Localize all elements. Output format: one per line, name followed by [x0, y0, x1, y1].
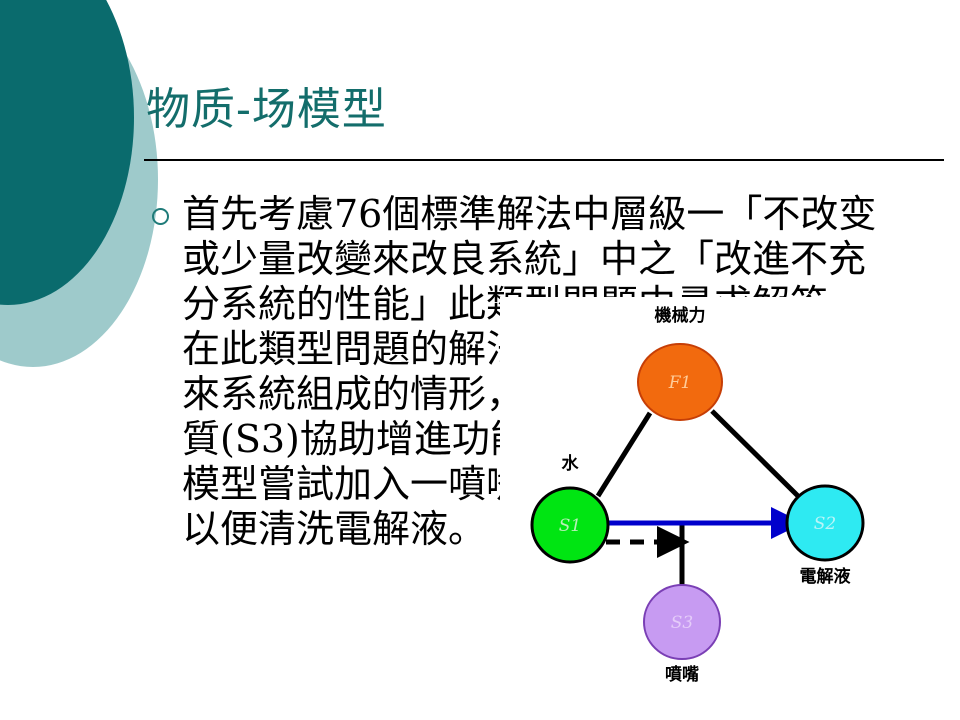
ring-bullet-icon — [152, 208, 169, 225]
edge-f1-to-s2 — [712, 411, 799, 497]
node-F1-label: F1 — [668, 373, 692, 393]
su-field-diagram: F1 機械力 S1 水 S2 電解液 S3 噴嘴 — [500, 297, 960, 697]
node-S2-label: S2 — [814, 514, 836, 534]
node-S1-label: S1 — [559, 516, 581, 536]
node-S3-outer-label: 噴嘴 — [665, 665, 699, 685]
body-line: 首先考慮76個標準解法中層級一「不改变 — [182, 192, 942, 237]
bullet-marker — [152, 192, 182, 225]
page-title: 物质-场模型 — [146, 82, 946, 138]
body-line: 或少量改變來改良系統」中之「改進不充 — [182, 237, 942, 282]
title-divider — [144, 159, 944, 161]
node-S2-outer-label: 電解液 — [800, 566, 851, 587]
node-S1-outer-label: 水 — [562, 453, 580, 474]
node-S3-label: S3 — [671, 613, 693, 633]
node-F1-outer-label: 機械力 — [655, 305, 706, 326]
edge-f1-to-s1 — [598, 413, 650, 496]
slide-canvas: 物质-场模型 首先考慮76個標準解法中層級一「不改变 或少量改變來改良系統」中之… — [0, 0, 960, 720]
